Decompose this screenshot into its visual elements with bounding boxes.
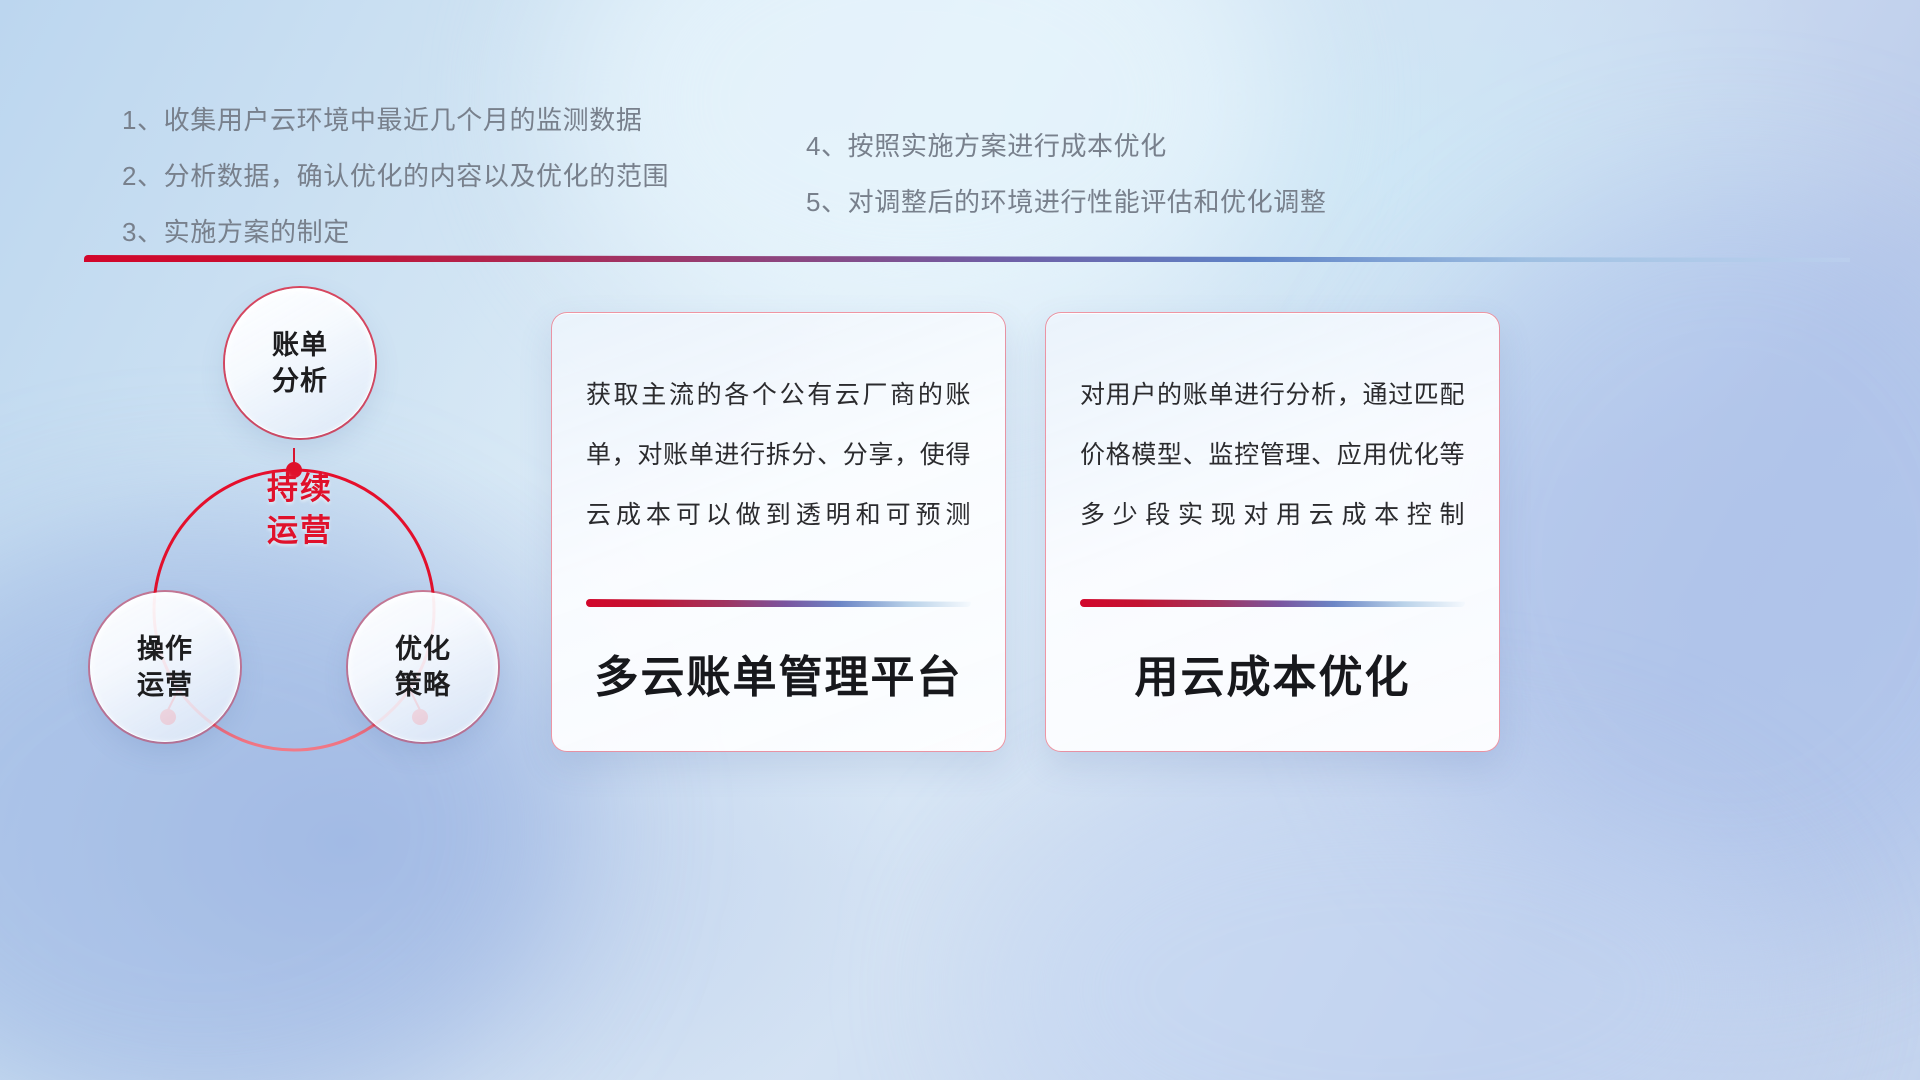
venn-center-label-line1: 持续 <box>239 468 361 510</box>
header-list-left: 1、收集用户云环境中最近几个月的监测数据 2、分析数据，确认优化的内容以及优化的… <box>122 92 669 260</box>
venn-bubble-label-line2: 运营 <box>137 667 193 703</box>
card-title: 多云账单管理平台 <box>586 607 971 751</box>
background-glow-bottom <box>980 760 1800 1080</box>
header-list-item: 2、分析数据，确认优化的内容以及优化的范围 <box>122 148 669 204</box>
header-list-item: 3、实施方案的制定 <box>122 204 669 260</box>
card-multicloud-billing-platform[interactable]: 获取主流的各个公有云厂商的账单，对账单进行拆分、分享，使得云成本可以做到透明和可… <box>551 312 1006 752</box>
section-divider <box>84 255 1850 262</box>
header-list-item: 1、收集用户云环境中最近几个月的监测数据 <box>122 92 669 148</box>
venn-bubble-label-line1: 账单 <box>272 327 328 363</box>
venn-diagram: 账单 分析 操作 运营 优化 策略 持续 运营 <box>70 280 540 780</box>
venn-center-label-line2: 运营 <box>239 510 361 552</box>
venn-bubble-label-line2: 策略 <box>395 667 451 703</box>
venn-bubble-label-line2: 分析 <box>272 363 328 399</box>
header-list-right: 4、按照实施方案进行成本优化 5、对调整后的环境进行性能评估和优化调整 <box>806 118 1326 230</box>
venn-bubble-label-line1: 优化 <box>395 631 451 667</box>
venn-bubble-billing-analysis[interactable]: 账单 分析 <box>225 288 375 438</box>
card-accent-rule <box>586 599 971 607</box>
header-list-item: 4、按照实施方案进行成本优化 <box>806 118 1326 174</box>
card-body-text: 获取主流的各个公有云厂商的账单，对账单进行拆分、分享，使得云成本可以做到透明和可… <box>586 365 971 545</box>
card-body-text: 对用户的账单进行分析，通过匹配价格模型、监控管理、应用优化等多少段实现对用云成本… <box>1080 365 1465 545</box>
card-accent-rule <box>1080 599 1465 607</box>
venn-bubble-optimization-strategy[interactable]: 优化 策略 <box>348 592 498 742</box>
venn-center-label: 持续 运营 <box>239 468 361 552</box>
card-title: 用云成本优化 <box>1080 607 1465 751</box>
slide-canvas: 1、收集用户云环境中最近几个月的监测数据 2、分析数据，确认优化的内容以及优化的… <box>0 0 1920 1080</box>
venn-bubble-operations[interactable]: 操作 运营 <box>90 592 240 742</box>
venn-bubble-label-line1: 操作 <box>137 631 193 667</box>
card-cloud-cost-optimization[interactable]: 对用户的账单进行分析，通过匹配价格模型、监控管理、应用优化等多少段实现对用云成本… <box>1045 312 1500 752</box>
header-list-item: 5、对调整后的环境进行性能评估和优化调整 <box>806 174 1326 230</box>
